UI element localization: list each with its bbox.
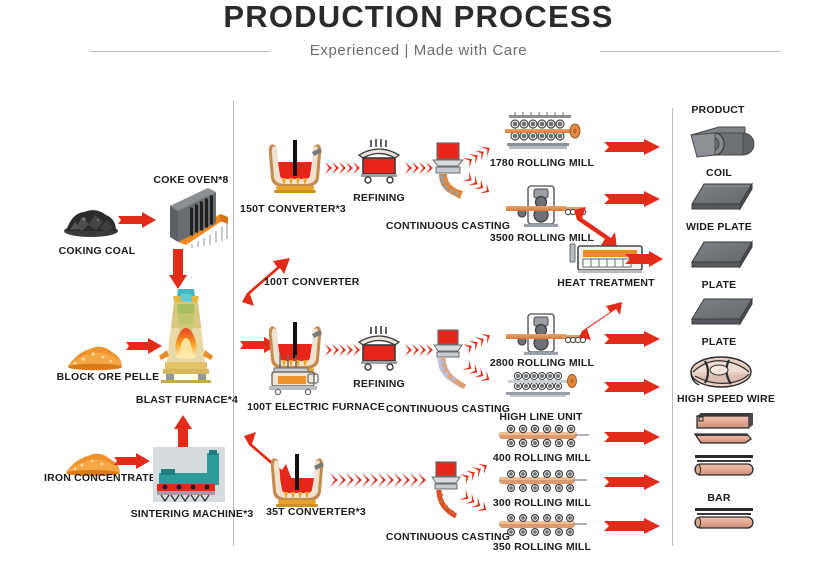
chevron-converter35-to-casting: [330, 470, 426, 490]
arrow-heattreatment-to-plate: [625, 250, 665, 268]
arrow-mill350-to-bar: [604, 517, 662, 535]
label-blast-furnace: BLAST FURNACE*4: [136, 394, 238, 406]
electric-furnace-icon: [264, 355, 326, 395]
arrow-mill3500-to-wideplate: [604, 190, 662, 208]
chevron-casting-to-mill2800: [463, 325, 497, 355]
steel-plate-icon: [690, 182, 754, 214]
label-converter-100t: 100T CONVERTER: [264, 276, 360, 288]
multi-stand-mill-icon: [504, 368, 584, 404]
divider-right: [672, 108, 673, 546]
label-mill-1780: 1780 ROLLING MILL: [490, 157, 594, 169]
label-continuous-casting-top: CONTINUOUS CASTING: [386, 220, 510, 232]
label-block-ore-pelle: BLOCK ORE PELLE: [57, 371, 160, 383]
arrow-concentrate-to-sintering: [114, 452, 152, 470]
bar-mill-icon: [497, 424, 589, 452]
label-mill-300: 300 ROLLING MILL: [493, 497, 591, 509]
chevron-casting-to-mill300: [460, 455, 494, 485]
chevron-casting-to-mill350: [460, 488, 494, 520]
steel-plate-icon: [690, 297, 754, 329]
label-product-plate-1: PLATE: [702, 279, 737, 291]
page-title: PRODUCTION PROCESS: [0, 0, 837, 36]
label-electric-furnace-100t: 100T ELECTRIC FURNACE: [247, 401, 385, 413]
steel-coil-icon: [689, 125, 755, 163]
arrow-cokeoven-to-blastfurnace: [169, 249, 187, 291]
chevron-casting-to-mill3500: [463, 170, 497, 202]
subtitle-rule-right: [600, 51, 780, 52]
arrow-mill300-to-bar: [604, 473, 662, 491]
label-iron-concentrate: IRON CONCENTRATE: [44, 472, 156, 484]
label-product-bar: BAR: [707, 492, 730, 504]
label-mill-350: 350 ROLLING MILL: [493, 541, 591, 553]
ladle-furnace-icon: [355, 138, 403, 184]
label-product-high-speed-wire: HIGH SPEED WIRE: [677, 393, 775, 405]
bar-mill-icon: [495, 470, 587, 496]
label-heat-treatment: HEAT TREATMENT: [557, 277, 655, 289]
multi-stand-mill-icon: [503, 112, 585, 154]
coal-pile-icon: [62, 203, 120, 237]
ladle-furnace-icon: [355, 325, 403, 371]
label-high-line-unit: HIGH LINE UNIT: [499, 411, 582, 423]
label-coking-coal: COKING COAL: [59, 245, 136, 257]
blast-furnace-icon: [155, 288, 217, 384]
steel-bar-icon: [693, 455, 755, 477]
converter-icon: [262, 134, 328, 198]
ore-pile-icon: [66, 340, 124, 370]
subtitle-row: Experienced | Made with Care: [0, 41, 837, 61]
label-continuous-casting-bottom: CONTINUOUS CASTING: [386, 531, 510, 543]
label-sintering-machine: SINTERING MACHINE*3: [131, 508, 254, 520]
arrow-highline-to-wire: [604, 378, 662, 396]
label-continuous-casting-mid: CONTINUOUS CASTING: [386, 403, 510, 415]
label-converter-35t: 35T CONVERTER*3: [266, 506, 366, 518]
divider-left: [233, 100, 234, 546]
label-mill-400: 400 ROLLING MILL: [493, 452, 591, 464]
wire-rod-coil-icon: [689, 355, 753, 389]
steel-plate-icon: [690, 240, 754, 272]
products-heading: PRODUCT: [691, 104, 744, 116]
sintering-machine-icon: [153, 447, 225, 502]
plate-mill-icon: [506, 312, 586, 356]
label-converter-150t: 150T CONVERTER*3: [240, 203, 346, 215]
label-coke-oven: COKE OVEN*8: [153, 174, 228, 186]
arrow-mill400-to-bar: [604, 428, 662, 446]
label-product-coil: COIL: [706, 167, 732, 179]
production-process-diagram: PRODUCTION PROCESS Experienced | Made wi…: [0, 0, 837, 565]
converter-icon: [264, 448, 330, 512]
label-refining-top: REFINING: [353, 192, 405, 204]
steel-bar-icon: [693, 508, 755, 530]
coke-oven-icon: [148, 186, 232, 248]
arrow-mill1780-to-coil: [604, 138, 662, 156]
bar-mill-icon: [495, 514, 587, 540]
arrow-mill3500-to-heattreatment: [573, 207, 617, 249]
label-product-wide-plate: WIDE PLATE: [686, 221, 752, 233]
arrow-mill2800-to-highspeedwire: [604, 330, 662, 348]
steel-bar-icon: [693, 412, 755, 446]
label-refining-mid: REFINING: [353, 378, 405, 390]
label-product-plate-2: PLATE: [702, 336, 737, 348]
